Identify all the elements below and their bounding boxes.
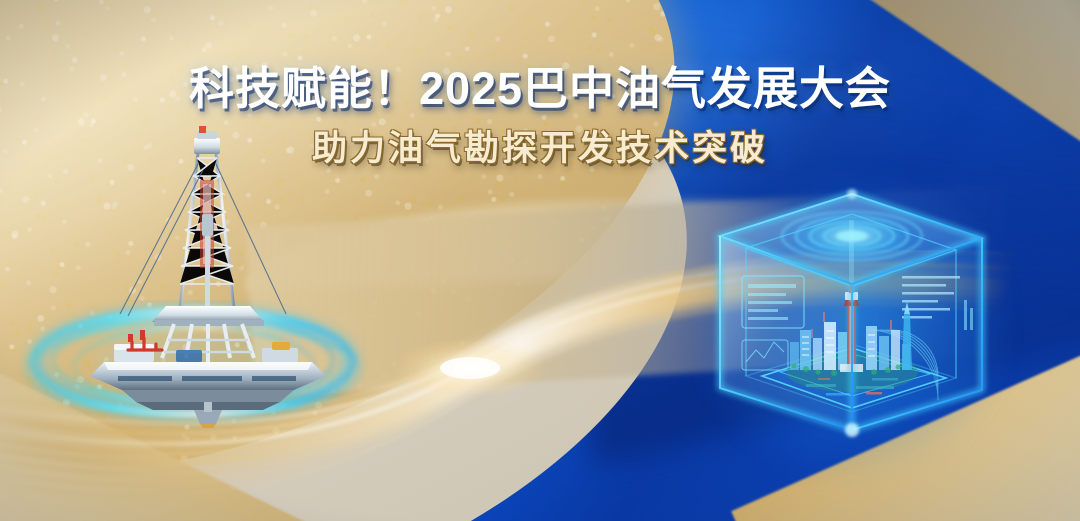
gold-light-ribbon (0, 250, 1080, 500)
gold-band-tail (246, 185, 1014, 397)
banner-headline: 科技赋能！2025巴中油气发展大会 (0, 60, 1080, 118)
conference-banner: 科技赋能！2025巴中油气发展大会 助力油气勘探开发技术突破 (0, 0, 1080, 521)
gold-corner-bottom-right (731, 320, 1080, 521)
cube-ambient-glow (690, 165, 1015, 485)
gold-corner-bottom-left (0, 346, 321, 521)
holographic-glass-cube (706, 180, 996, 465)
banner-subtitle: 助力油气勘探开发技术突破 (0, 127, 1080, 171)
banner-text-block: 科技赋能！2025巴中油气发展大会 助力油气勘探开发技术突破 (0, 60, 1080, 170)
gold-band-edge (245, 188, 937, 290)
rig-base-glow-rings (18, 300, 368, 430)
